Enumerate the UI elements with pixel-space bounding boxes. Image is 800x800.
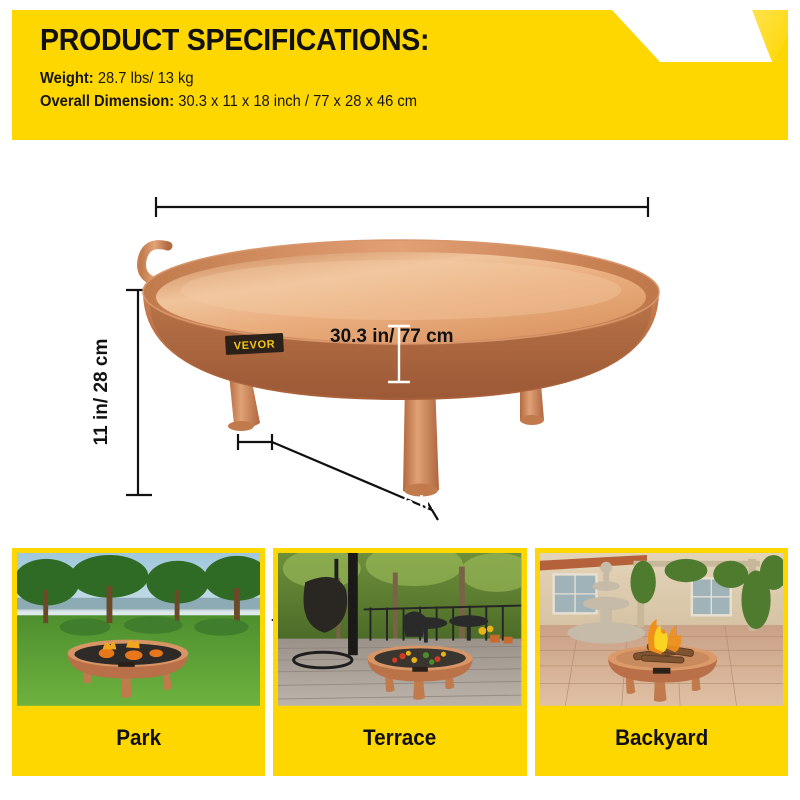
svg-text:VEVOR: VEVOR (233, 338, 275, 352)
scene-caption-park: Park (24, 710, 253, 766)
scene-card-park[interactable]: Park (12, 548, 265, 776)
vevor-badge: VEVOR (225, 333, 284, 355)
spec-row-weight: Weight: 28.7 lbs/ 13 kg (40, 67, 705, 91)
scene-photo-backyard (540, 553, 783, 710)
product-dimension-diagram: VEVOR 30.3 in/ 77 cm 11 in/ 28 cm 6 in/ … (0, 150, 800, 540)
spec-value: 28.7 lbs/ 13 kg (98, 70, 194, 87)
scene-photo-park (17, 553, 260, 710)
spec-key: Overall Dimension: (40, 93, 174, 110)
scene-caption-backyard: Backyard (547, 710, 776, 766)
dimension-line-leg-offset (238, 434, 272, 450)
spec-value: 30.3 x 11 x 18 inch / 77 x 28 x 46 cm (178, 93, 417, 110)
usage-scene-gallery: Park (12, 548, 788, 776)
scene-caption-terrace: Terrace (286, 710, 515, 766)
dimension-line-height (126, 290, 152, 495)
scene-card-terrace[interactable]: Terrace (273, 548, 526, 776)
scene-card-backyard[interactable]: Backyard (535, 548, 788, 776)
spec-key: Weight: (40, 70, 94, 87)
dimension-line-width (156, 197, 648, 217)
scene-photo-terrace (278, 553, 521, 710)
specifications-banner: PRODUCT SPECIFICATIONS: Weight: 28.7 lbs… (12, 10, 788, 140)
dimension-label-width: 30.3 in/ 77 cm (330, 326, 454, 348)
dimension-label-height: 11 in/ 28 cm (91, 312, 113, 472)
page-title: PRODUCT SPECIFICATIONS: (40, 24, 684, 57)
spec-row-dimension: Overall Dimension: 30.3 x 11 x 18 inch /… (40, 90, 705, 114)
dimension-label-inner-depth: 6 in/ 15 cm (403, 493, 500, 515)
